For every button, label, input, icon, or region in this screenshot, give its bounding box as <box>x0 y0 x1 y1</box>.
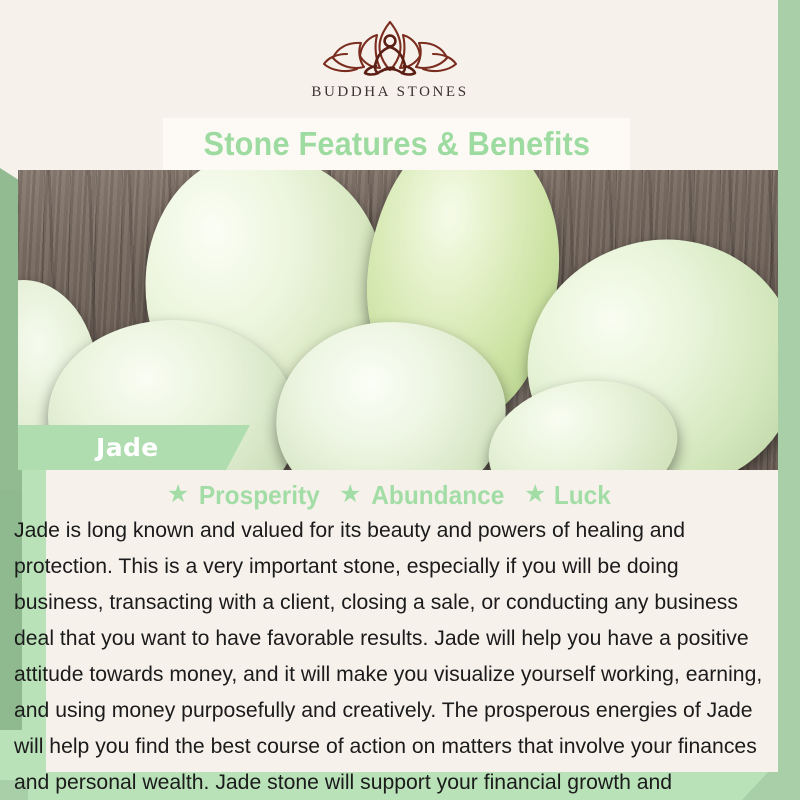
benefit-item: ★ Prosperity <box>167 480 324 511</box>
benefit-label: Prosperity <box>199 480 320 511</box>
brand-header: BUDDHA STONES <box>0 0 780 118</box>
benefit-item: ★ Luck <box>524 480 613 511</box>
brand-name: BUDDHA STONES <box>311 84 468 101</box>
star-icon: ★ <box>524 482 546 507</box>
benefit-item: ★ Abundance <box>339 480 509 511</box>
page-title: Stone Features & Benefits <box>203 125 590 163</box>
stone-name-banner: Jade <box>18 425 250 470</box>
star-icon: ★ <box>167 482 189 507</box>
right-edge-band <box>778 0 800 800</box>
title-band: Stone Features & Benefits <box>163 118 630 170</box>
benefits-row: ★ Prosperity ★ Abundance ★ Luck <box>0 478 780 512</box>
stone-description: Jade is long known and valued for its be… <box>14 512 770 800</box>
benefit-label: Luck <box>554 480 611 511</box>
benefit-label: Abundance <box>372 480 505 511</box>
lotus-meditation-icon <box>320 16 460 80</box>
star-icon: ★ <box>339 482 361 507</box>
stone-name-label: Jade <box>96 433 159 462</box>
infographic-poster: BUDDHA STONES Stone Features & Benefits … <box>0 0 800 800</box>
